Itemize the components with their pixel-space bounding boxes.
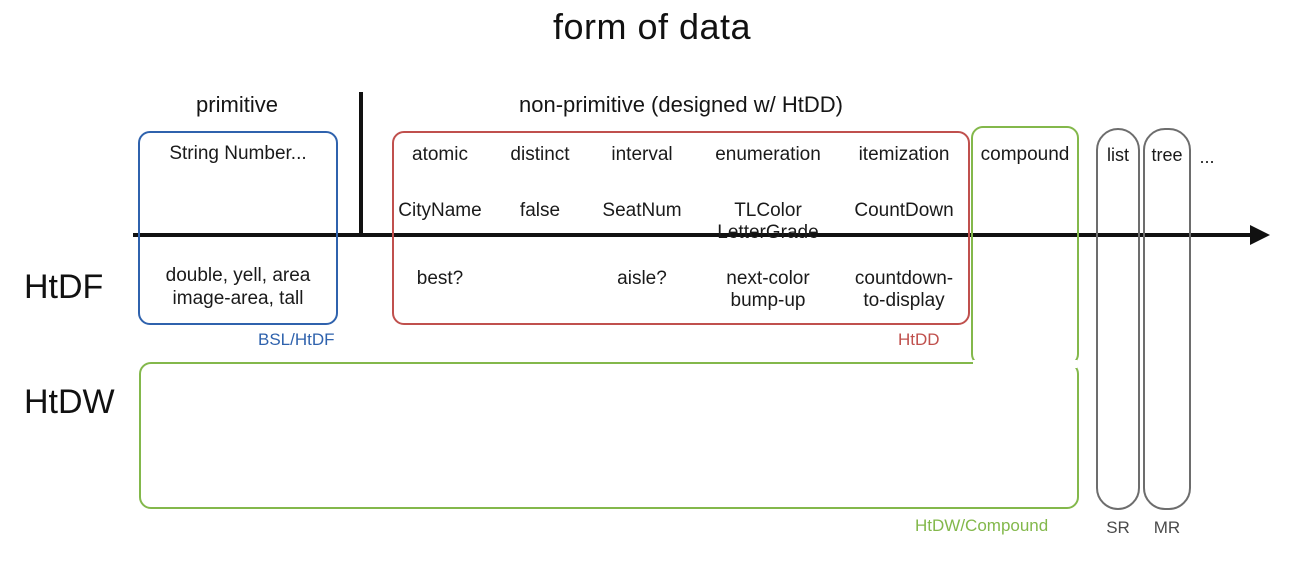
htdd-example-enumeration-main: LetterGrade bbox=[694, 222, 842, 244]
htdd-function-enumeration-main: bump-up bbox=[694, 290, 842, 312]
htdd-kind-distinct: distinct bbox=[492, 144, 588, 166]
htdd-function-interval: aisle? bbox=[592, 268, 692, 290]
capsule-label-list: list bbox=[1096, 144, 1140, 166]
htdd-function-enumeration: next-color bump-up bbox=[694, 268, 842, 312]
column-header-primitive: primitive bbox=[137, 92, 337, 118]
capsule-bottom-label-mr: MR bbox=[1143, 518, 1191, 538]
htdd-kind-itemization: itemization bbox=[838, 144, 970, 166]
primitive-functions-line-1: double, yell, area bbox=[134, 264, 342, 287]
htdd-example-distinct: false bbox=[492, 200, 588, 222]
annotation-htdd: HtDD bbox=[898, 330, 940, 350]
htdd-function-enumeration-muted: next-color bbox=[694, 268, 842, 290]
row-label-htdf: HtDF bbox=[24, 268, 103, 307]
primitive-types: String Number... bbox=[138, 143, 338, 165]
htdd-kind-enumeration: enumeration bbox=[694, 144, 842, 166]
htdd-kind-interval: interval bbox=[592, 144, 692, 166]
page-title: form of data bbox=[0, 6, 1304, 48]
capsule-list bbox=[1096, 128, 1140, 510]
capsule-label-tree: tree bbox=[1143, 144, 1191, 166]
htdd-example-interval: SeatNum bbox=[592, 200, 692, 222]
diagram-canvas: form of data primitive non-primitive (de… bbox=[0, 0, 1304, 565]
htdd-example-enumeration-muted: TLColor bbox=[694, 200, 842, 222]
htdd-example-atomic: CityName bbox=[392, 200, 488, 222]
htdd-example-itemization: CountDown bbox=[838, 200, 970, 222]
column-header-non-primitive: non-primitive (designed w/ HtDD) bbox=[392, 92, 970, 118]
htdd-kind-atomic: atomic bbox=[392, 144, 488, 166]
capsule-tree bbox=[1143, 128, 1191, 510]
htdd-function-atomic: best? bbox=[392, 268, 488, 290]
compound-label: compound bbox=[971, 144, 1079, 166]
box-seam-patch bbox=[973, 360, 1077, 368]
htdw-group-box bbox=[139, 362, 1079, 509]
annotation-bsl-htdf: BSL/HtDF bbox=[258, 330, 335, 350]
axis-arrow-icon bbox=[1250, 225, 1270, 245]
annotation-htdw-compound: HtDW/Compound bbox=[915, 516, 1048, 536]
vertical-divider bbox=[359, 92, 363, 237]
htdd-example-enumeration: TLColor LetterGrade bbox=[694, 200, 842, 244]
htdd-function-itemization-line-2: to-display bbox=[838, 290, 970, 312]
capsule-bottom-label-sr: SR bbox=[1096, 518, 1140, 538]
row-label-htdw: HtDW bbox=[24, 383, 115, 422]
primitive-functions: double, yell, area image-area, tall bbox=[134, 264, 342, 310]
ellipsis-label: ... bbox=[1193, 146, 1221, 168]
primitive-functions-line-2: image-area, tall bbox=[134, 287, 342, 310]
htdd-function-itemization: countdown- to-display bbox=[838, 268, 970, 312]
htdd-function-itemization-line-1: countdown- bbox=[838, 268, 970, 290]
